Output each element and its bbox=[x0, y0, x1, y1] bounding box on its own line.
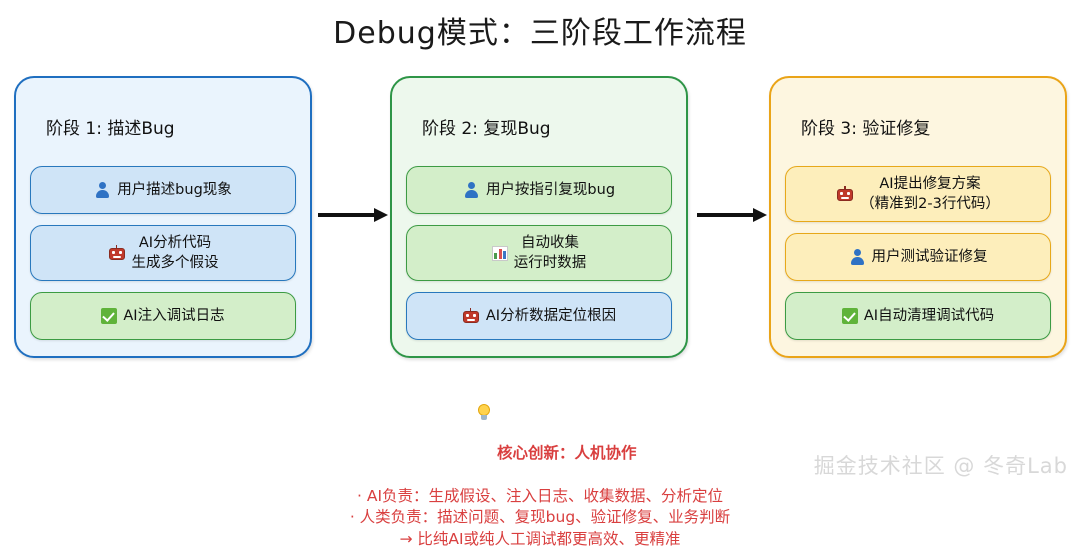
lightbulb-icon bbox=[476, 404, 492, 421]
watermark: 掘金技术社区 @ 冬奇Lab bbox=[814, 450, 1068, 480]
phase-3-item-3-label: AI自动清理调试代码 bbox=[864, 306, 994, 326]
summary-note-line-2: · AI负责：生成假设、注入日志、收集数据、分析定位 bbox=[0, 486, 1080, 508]
summary-note-line-4: → 比纯AI或纯人工调试都更高效、更精准 bbox=[0, 529, 1080, 550]
phase-1-title-line1: 阶段 1: 描述Bug bbox=[30, 117, 296, 142]
phase-2-item-3[interactable]: AI分析数据定位根因 bbox=[406, 292, 672, 340]
phase-2-items: 用户按指引复现bug 自动收集 运行时数据 AI分析数据定位根因 bbox=[406, 166, 672, 340]
phase-2-item-2[interactable]: 自动收集 运行时数据 bbox=[406, 225, 672, 281]
arrow-phase1-to-phase2 bbox=[318, 208, 388, 222]
phase-1-item-3[interactable]: AI注入调试日志 bbox=[30, 292, 296, 340]
person-icon bbox=[849, 249, 866, 266]
summary-note-line-1-text: 核心创新：人机协作 bbox=[497, 444, 637, 462]
phase-1-items: 用户描述bug现象 AI分析代码 生成多个假设 AI注入调试日志 bbox=[30, 166, 296, 340]
phase-2-item-1[interactable]: 用户按指引复现bug bbox=[406, 166, 672, 214]
phase-2-item-1-label: 用户按指引复现bug bbox=[486, 180, 615, 200]
phase-1-item-1-label: 用户描述bug现象 bbox=[117, 180, 232, 200]
bar-chart-icon bbox=[492, 246, 508, 261]
phase-1-item-2[interactable]: AI分析代码 生成多个假设 bbox=[30, 225, 296, 281]
phase-3-items: AI提出修复方案 （精准到2-3行代码） 用户测试验证修复 AI自动清理调试代码 bbox=[785, 166, 1051, 340]
phase-3-item-2[interactable]: 用户测试验证修复 bbox=[785, 233, 1051, 281]
diagram-canvas: Debug模式：三阶段工作流程 阶段 1: 描述Bug 生成假设 用户描述bug… bbox=[0, 0, 1080, 490]
phase-2-title-line1: 阶段 2: 复现Bug bbox=[406, 117, 672, 142]
phase-1-item-1[interactable]: 用户描述bug现象 bbox=[30, 166, 296, 214]
phase-2-item-3-label: AI分析数据定位根因 bbox=[486, 306, 616, 326]
phase-3-item-1-label: AI提出修复方案 （精准到2-3行代码） bbox=[860, 174, 1000, 214]
robot-icon bbox=[108, 245, 126, 261]
phase-1-item-3-label: AI注入调试日志 bbox=[123, 306, 224, 326]
phase-3-title-line1: 阶段 3: 验证修复 bbox=[785, 117, 1051, 142]
arrow-shaft bbox=[697, 213, 755, 217]
phase-3-item-3[interactable]: AI自动清理调试代码 bbox=[785, 292, 1051, 340]
arrow-head-icon bbox=[374, 208, 388, 222]
phase-card-2: 阶段 2: 复现Bug 收集数据 用户按指引复现bug 自动收集 运行时数据 A… bbox=[390, 76, 688, 358]
check-icon bbox=[101, 308, 117, 324]
robot-icon bbox=[462, 308, 480, 324]
page-title: Debug模式：三阶段工作流程 bbox=[0, 8, 1080, 52]
person-icon bbox=[94, 182, 111, 199]
arrow-shaft bbox=[318, 213, 376, 217]
arrow-head-icon bbox=[753, 208, 767, 222]
arrow-phase2-to-phase3 bbox=[697, 208, 767, 222]
summary-note-line-3: · 人类负责：描述问题、复现bug、验证修复、业务判断 bbox=[0, 507, 1080, 529]
phase-2-item-2-label: 自动收集 运行时数据 bbox=[514, 233, 587, 273]
phase-3-item-1[interactable]: AI提出修复方案 （精准到2-3行代码） bbox=[785, 166, 1051, 222]
phase-1-item-2-label: AI分析代码 生成多个假设 bbox=[132, 233, 219, 273]
phase-3-item-2-label: 用户测试验证修复 bbox=[872, 247, 988, 267]
phase-card-1: 阶段 1: 描述Bug 生成假设 用户描述bug现象 AI分析代码 生成多个假设… bbox=[14, 76, 312, 358]
phase-card-3: 阶段 3: 验证修复 清理代码 AI提出修复方案 （精准到2-3行代码） 用户测… bbox=[769, 76, 1067, 358]
check-icon bbox=[842, 308, 858, 324]
robot-icon bbox=[836, 186, 854, 202]
person-icon bbox=[463, 182, 480, 199]
